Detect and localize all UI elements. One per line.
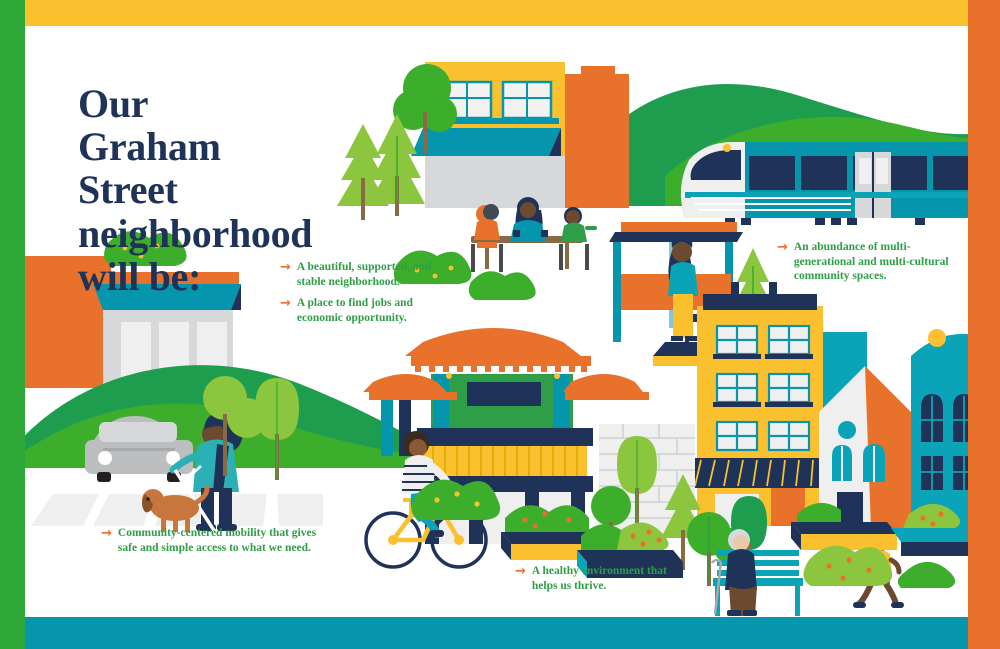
callout-mobility-text: Community-centered mobility that gives s… [118, 526, 331, 555]
poster-canvas: Our Graham Street neighborhood will be: … [25, 26, 968, 617]
callout-healthy: → A healthy environment that helps us th… [515, 564, 675, 593]
yellow-apartment-building [681, 282, 829, 526]
frame-right-bar [968, 0, 1000, 649]
frame-left-bar [0, 0, 25, 649]
teal-arched-building [911, 329, 968, 528]
title-line-3: Street [78, 168, 378, 211]
callout-mobility: → Community-centered mobility that gives… [101, 526, 331, 555]
callout-beautiful: → A beautiful, supported, and stable nei… [280, 260, 435, 289]
arrow-icon: → [777, 240, 788, 256]
callout-healthy-text: A healthy environment that helps us thri… [532, 564, 675, 593]
arrow-icon: → [280, 260, 291, 276]
orange-apartment-building [565, 66, 629, 208]
light-rail-train [681, 142, 968, 225]
frame-bottom-bar [25, 617, 968, 649]
callout-abundance-text: An abundance of multi-generational and m… [794, 240, 952, 284]
callout-jobs: → A place to find jobs and economic oppo… [280, 296, 430, 325]
title-line-4: neighborhood [78, 212, 378, 255]
outdoor-cafe-group [471, 197, 597, 272]
arrow-icon: → [101, 526, 112, 542]
title-line-2: Graham [78, 125, 378, 168]
frame-top-bar [25, 0, 968, 26]
arrow-icon: → [280, 296, 291, 312]
callout-abundance: → An abundance of multi-generational and… [777, 240, 952, 284]
arrow-icon: → [515, 564, 526, 580]
title-line-1: Our [78, 82, 378, 125]
callout-beautiful-text: A beautiful, supported, and stable neigh… [297, 260, 435, 289]
callout-jobs-text: A place to find jobs and economic opport… [297, 296, 430, 325]
